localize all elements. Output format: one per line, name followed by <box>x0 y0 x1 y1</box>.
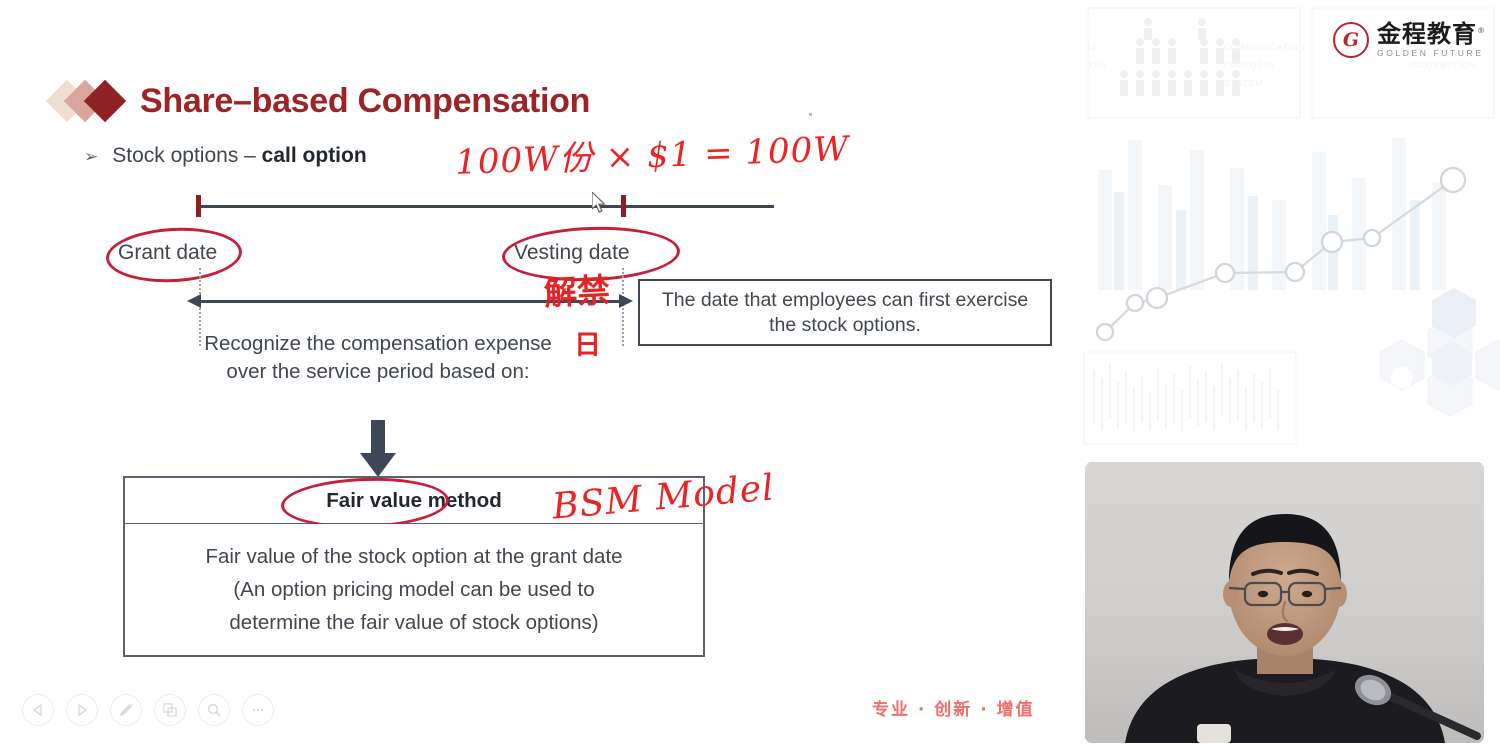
svg-text:SYSTEM: SYSTEM <box>1224 79 1263 88</box>
fair-value-line-1: Fair value of the stock option at the gr… <box>205 540 622 573</box>
instructor-video[interactable] <box>1085 462 1484 743</box>
bullet-text-bold: call option <box>262 144 367 167</box>
handwritten-formula-annotation: 100W份 × $1 = 100W <box>454 121 850 184</box>
mouse-cursor-icon <box>592 192 608 214</box>
artifact-dot <box>809 113 812 116</box>
bullet-text-plain: Stock options – <box>112 144 261 167</box>
brand-slogan: 专业 · 创新 · 增值 <box>872 695 1035 720</box>
timeline-axis <box>198 205 774 208</box>
seal-icon: G <box>1333 22 1369 58</box>
fair-value-description-box: Fair value of the stock option at the gr… <box>123 524 705 657</box>
svg-text:PROTOCOL: PROTOCOL <box>1224 61 1277 70</box>
slide-title-row: Share–based Compensation <box>52 78 590 124</box>
next-slide-button[interactable] <box>66 694 98 726</box>
player-toolbar <box>22 694 274 726</box>
arrowhead-left-icon <box>187 294 201 308</box>
previous-slide-button[interactable] <box>22 694 54 726</box>
arrowhead-right-icon <box>619 294 633 308</box>
vesting-date-callout-box: The date that employees can first exerci… <box>638 279 1052 346</box>
brand-name-en: GOLDEN FUTURE <box>1377 49 1486 58</box>
magnifier-icon <box>206 702 222 718</box>
seal-glyph: G <box>1343 29 1359 51</box>
webcam-frame <box>1085 462 1484 743</box>
down-arrow-icon <box>358 420 398 478</box>
page-title: Share–based Compensation <box>140 82 590 121</box>
decorative-background-graphics: COMMUNICATION PROTOCOL SYSTEM CONTENT IN… <box>1080 0 1500 460</box>
trademark-symbol: ® <box>1477 26 1486 35</box>
bullet-line: ➢ Stock options – call option <box>84 144 367 168</box>
slide-canvas: Share–based Compensation ➢ Stock options… <box>0 0 1080 750</box>
brand-logo: G 金程教育® GOLDEN FUTURE <box>1333 22 1486 58</box>
handwritten-vesting-cn2-annotation: 日 <box>574 323 601 362</box>
timeline-tick-grant <box>196 195 201 217</box>
fair-value-line-2: (An option pricing model can be used to <box>233 573 594 606</box>
svg-text:TER: TER <box>1088 61 1107 70</box>
timeline-tick-vesting <box>621 195 626 217</box>
triangle-right-icon <box>75 703 89 717</box>
svg-text:IS: IS <box>1088 43 1098 52</box>
pages-icon <box>162 702 178 718</box>
svg-text:INFORMATION: INFORMATION <box>1410 61 1476 70</box>
diamond-bullet-icon <box>52 78 130 124</box>
more-options-button[interactable] <box>242 694 274 726</box>
service-period-description: Recognize the compensation expense over … <box>200 330 556 387</box>
bullet-arrow-icon: ➢ <box>84 148 98 165</box>
triangle-left-icon <box>31 703 45 717</box>
grant-date-circle-annotation <box>105 224 244 285</box>
bullet-label: Stock options – call option <box>112 144 366 168</box>
handwritten-vesting-cn-annotation: 解禁 <box>543 274 611 309</box>
svg-text:COMMUNICATION: COMMUNICATION <box>1224 43 1306 52</box>
slides-panel-button[interactable] <box>154 694 186 726</box>
zoom-button[interactable] <box>198 694 230 726</box>
pen-tool-button[interactable] <box>110 694 142 726</box>
pen-icon <box>118 702 134 718</box>
fair-value-line-3: determine the fair value of stock option… <box>229 606 598 639</box>
brand-logo-text: 金程教育® GOLDEN FUTURE <box>1377 22 1486 58</box>
sidebar-panel: COMMUNICATION PROTOCOL SYSTEM CONTENT IN… <box>1080 0 1500 750</box>
presentation-player: Share–based Compensation ➢ Stock options… <box>0 0 1500 750</box>
ellipsis-icon <box>250 702 266 718</box>
brand-name-cn: 金程教育® <box>1377 22 1486 46</box>
